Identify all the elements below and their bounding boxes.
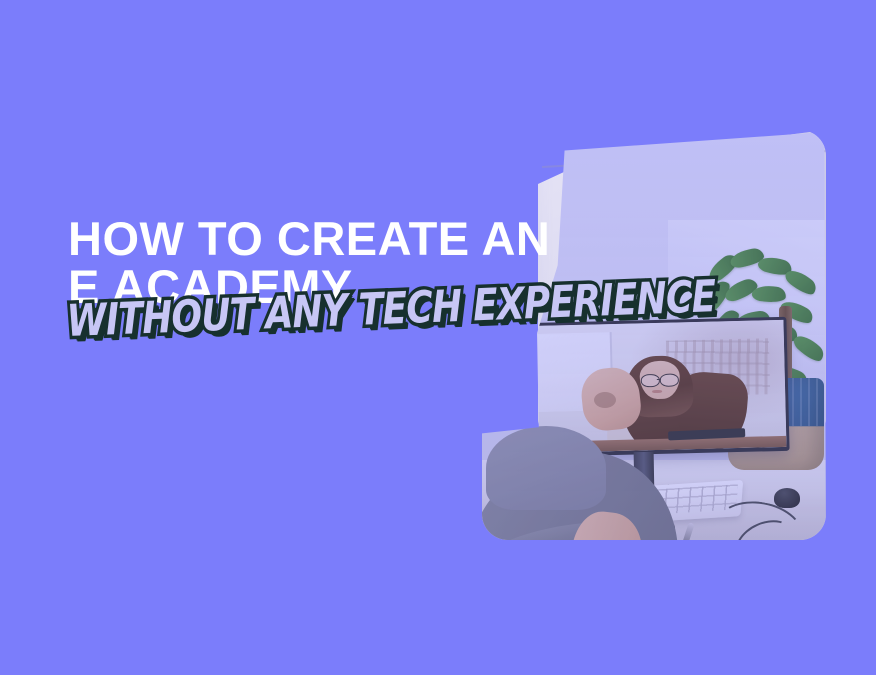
photo-clip <box>482 130 826 540</box>
headline-line-1: HOW TO CREATE AN <box>68 215 628 263</box>
poster-canvas: HOW TO CREATE AN E ACADEMY WITHOUT ANY T… <box>0 0 876 675</box>
photo-inner <box>482 130 826 540</box>
hero-photo <box>482 130 826 540</box>
photo-purple-wash <box>482 130 826 540</box>
